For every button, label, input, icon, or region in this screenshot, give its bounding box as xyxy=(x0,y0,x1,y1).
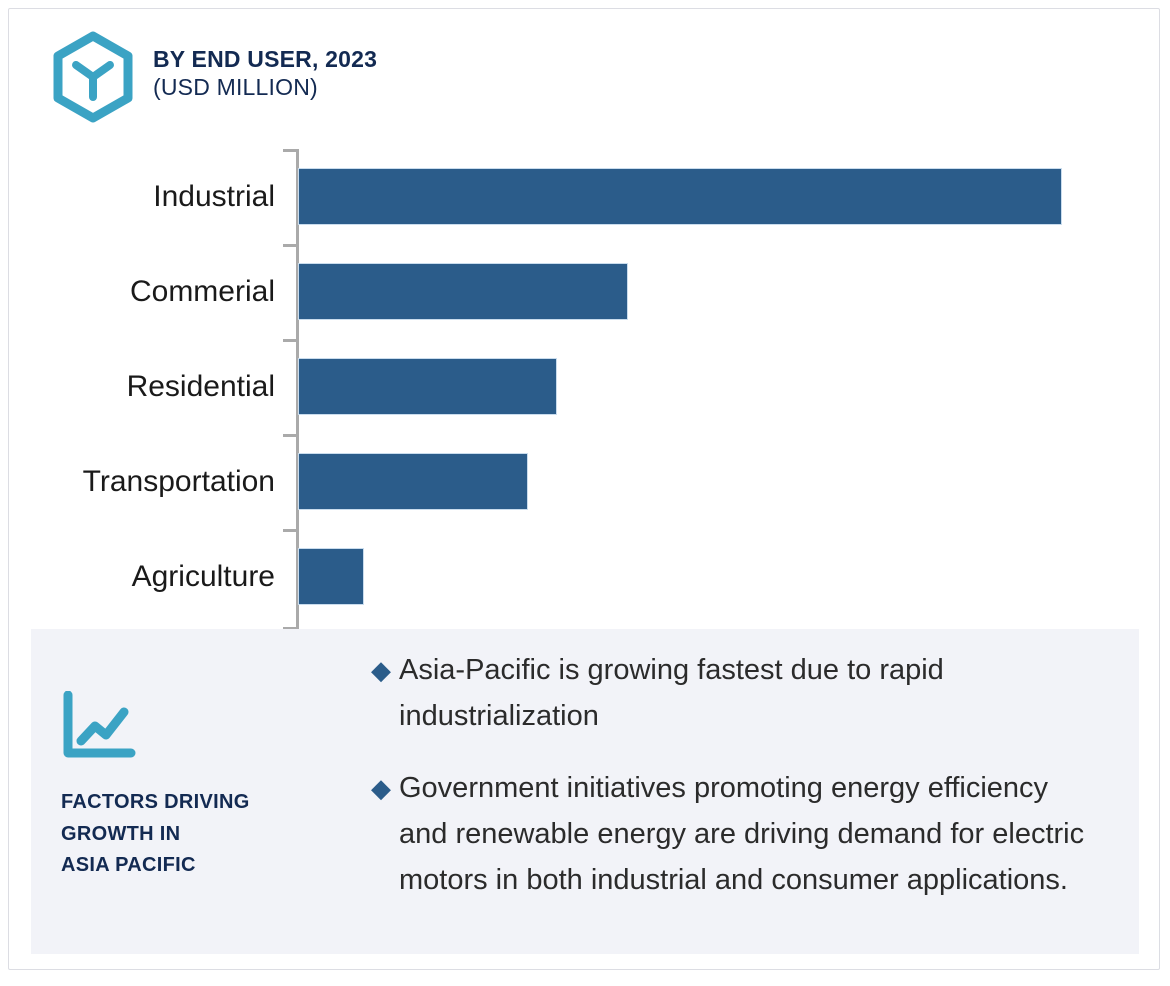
chart-row-commerial: Commerial xyxy=(9,244,1160,339)
bar-chart: Industrial Commerial Residential Transpo… xyxy=(9,141,1160,637)
page-title: BY END USER, 2023 xyxy=(153,45,377,73)
bar-residential xyxy=(298,358,557,415)
header-text-block: BY END USER, 2023 (USD MILLION) xyxy=(153,31,377,101)
diamond-bullet-icon: ◆ xyxy=(371,647,391,693)
list-item: ◆ Asia-Pacific is growing fastest due to… xyxy=(371,647,1101,739)
category-label: Commerial xyxy=(130,244,275,339)
insights-title-line-1: FACTORS DRIVING xyxy=(61,787,341,819)
category-label: Transportation xyxy=(83,434,275,529)
list-item-text: Asia-Pacific is growing fastest due to r… xyxy=(399,647,1101,739)
chart-row-residential: Residential xyxy=(9,339,1160,434)
bar-transportation xyxy=(298,453,528,510)
hexagon-y-icon xyxy=(51,31,135,128)
page-subtitle: (USD MILLION) xyxy=(153,73,377,101)
bar-agriculture xyxy=(298,548,364,605)
infographic-card: BY END USER, 2023 (USD MILLION) Industri… xyxy=(8,8,1160,970)
chart-row-industrial: Industrial xyxy=(9,149,1160,244)
chart-row-agriculture: Agriculture xyxy=(9,529,1160,624)
category-label: Residential xyxy=(127,339,275,434)
list-item-text: Government initiatives promoting energy … xyxy=(399,765,1101,903)
insights-panel: FACTORS DRIVING GROWTH IN ASIA PACIFIC ◆… xyxy=(31,629,1139,954)
insights-title-line-3: ASIA PACIFIC xyxy=(61,850,341,882)
bar-industrial xyxy=(298,168,1062,225)
chart-row-transportation: Transportation xyxy=(9,434,1160,529)
chart-header: BY END USER, 2023 (USD MILLION) xyxy=(51,31,377,128)
insights-bullet-list: ◆ Asia-Pacific is growing fastest due to… xyxy=(371,647,1101,929)
list-item: ◆ Government initiatives promoting energ… xyxy=(371,765,1101,903)
insights-panel-heading-block: FACTORS DRIVING GROWTH IN ASIA PACIFIC xyxy=(61,691,341,882)
insights-panel-title: FACTORS DRIVING GROWTH IN ASIA PACIFIC xyxy=(61,787,341,882)
category-label: Industrial xyxy=(153,149,275,244)
line-chart-icon xyxy=(61,691,341,761)
bar-commerial xyxy=(298,263,628,320)
insights-title-line-2: GROWTH IN xyxy=(61,819,341,851)
category-label: Agriculture xyxy=(132,529,275,624)
diamond-bullet-icon: ◆ xyxy=(371,765,391,811)
